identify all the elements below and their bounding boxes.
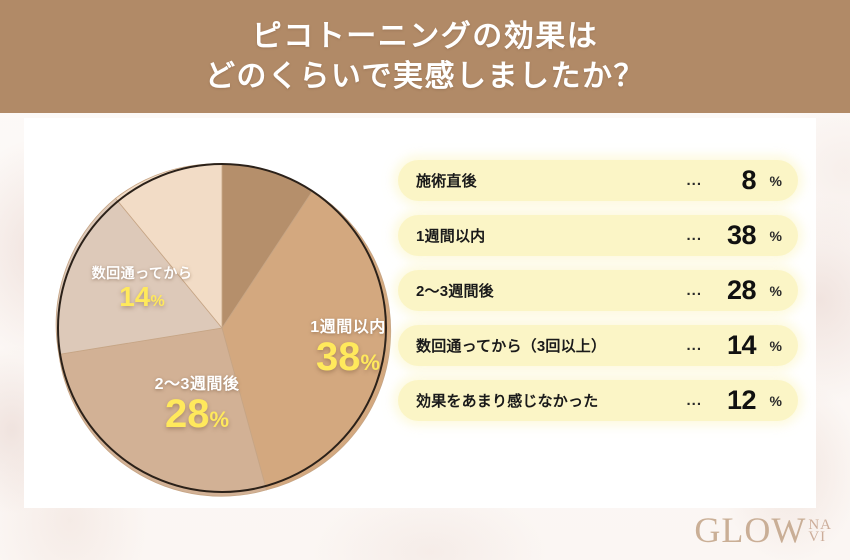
header-banner: ピコトーニングの効果は どのくらいで実感しましたか？: [0, 0, 850, 113]
legend-label: 数回通ってから（3回以上）: [416, 335, 606, 356]
legend-list: 施術直後 ... 8 % 1週間以内 ... 38 % 2〜3週間後 ... 2…: [398, 160, 798, 421]
legend-unit: %: [756, 228, 782, 244]
brand-logo-sub-bottom: VI: [808, 531, 832, 544]
legend-unit: %: [756, 393, 782, 409]
legend-dots: ...: [598, 392, 714, 409]
brand-logo-sub: NA VI: [808, 519, 832, 549]
legend-label: 2〜3週間後: [416, 280, 494, 301]
content-card: 1週間以内 38% 2〜3週間後 28% 数回通ってから 14% 施術直後 ..…: [24, 118, 816, 508]
legend-dots: ...: [485, 227, 714, 244]
pie-chart: 1週間以内 38% 2〜3週間後 28% 数回通ってから 14%: [52, 158, 392, 498]
legend-dots: ...: [606, 337, 714, 354]
legend-dots: ...: [494, 282, 714, 299]
legend-unit: %: [756, 338, 782, 354]
legend-label: 1週間以内: [416, 225, 485, 246]
header-title-line-1: ピコトーニングの効果は: [252, 18, 599, 56]
brand-logo-main: GLOW: [694, 512, 806, 548]
legend-unit: %: [756, 283, 782, 299]
legend-row-2〜3週間後[interactable]: 2〜3週間後 ... 28 %: [398, 270, 798, 311]
legend-row-数回通ってから[interactable]: 数回通ってから（3回以上） ... 14 %: [398, 325, 798, 366]
infographic-page: ピコトーニングの効果は どのくらいで実感しましたか？: [0, 0, 850, 560]
brand-logo: GLOW NA VI: [694, 512, 832, 548]
legend-unit: %: [756, 173, 782, 189]
legend-label: 施術直後: [416, 170, 477, 191]
pie-chart-svg: [52, 158, 392, 498]
header-title-line-2: どのくらいで実感しましたか？: [205, 58, 645, 96]
legend-value: 8: [714, 167, 756, 194]
legend-value: 12: [714, 387, 756, 414]
legend-row-施術直後[interactable]: 施術直後 ... 8 %: [398, 160, 798, 201]
legend-row-効果をあまり感じなかった[interactable]: 効果をあまり感じなかった ... 12 %: [398, 380, 798, 421]
legend-label: 効果をあまり感じなかった: [416, 390, 598, 411]
legend-value: 38: [714, 222, 756, 249]
legend-value: 14: [714, 332, 756, 359]
legend-row-1週間以内[interactable]: 1週間以内 ... 38 %: [398, 215, 798, 256]
legend-value: 28: [714, 277, 756, 304]
legend-dots: ...: [477, 172, 714, 189]
